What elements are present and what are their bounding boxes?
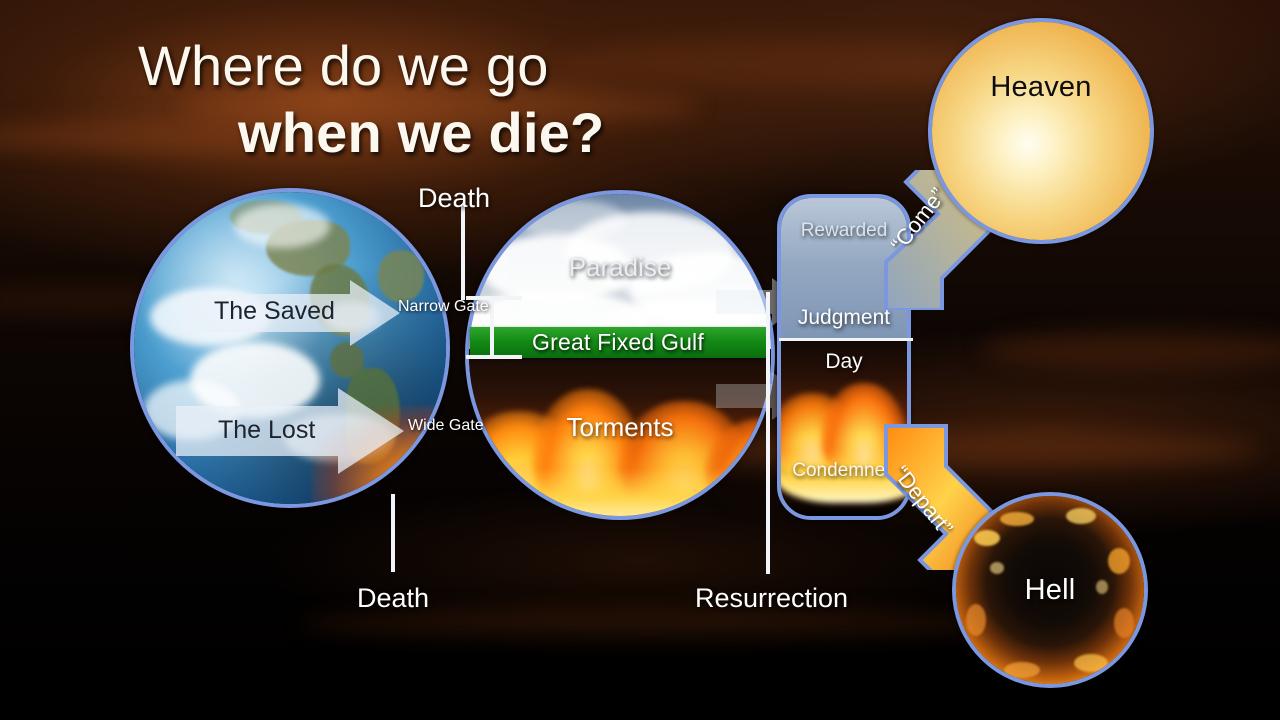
arrow-the-saved[interactable]: The Saved: [182, 280, 400, 346]
hell-node[interactable]: Hell: [952, 492, 1148, 688]
death-top-label: Death: [418, 183, 490, 214]
death-bottom-label: Death: [357, 583, 429, 614]
hell-label: Hell: [956, 574, 1144, 607]
page-title-line2: when we die?: [238, 100, 604, 165]
great-fixed-gulf-band[interactable]: Great Fixed Gulf: [470, 327, 766, 358]
resurrection-label: Resurrection: [695, 583, 848, 614]
heaven-label: Heaven: [932, 71, 1150, 104]
earth-node[interactable]: The Saved The Lost: [130, 188, 450, 508]
judgment-line2-label: Day: [781, 350, 907, 374]
narrow-gate-label: Narrow Gate: [398, 298, 489, 316]
slide-canvas: Where do we go when we die? T: [0, 0, 1280, 720]
death-top-leader: [461, 204, 465, 300]
great-fixed-gulf-label: Great Fixed Gulf: [470, 329, 766, 356]
resurrection-leader: [766, 292, 770, 574]
page-title-line1: Where do we go: [138, 33, 549, 98]
arrow-the-lost-label: The Lost: [218, 416, 315, 445]
judgment-divider: [779, 338, 913, 341]
arrow-the-saved-label: The Saved: [214, 297, 335, 326]
death-bottom-leader: [391, 494, 395, 572]
wide-gate-label: Wide Gate: [408, 417, 484, 435]
arrow-the-lost[interactable]: The Lost: [176, 388, 404, 474]
heaven-texture: [932, 22, 1150, 240]
heaven-node[interactable]: Heaven: [928, 18, 1154, 244]
